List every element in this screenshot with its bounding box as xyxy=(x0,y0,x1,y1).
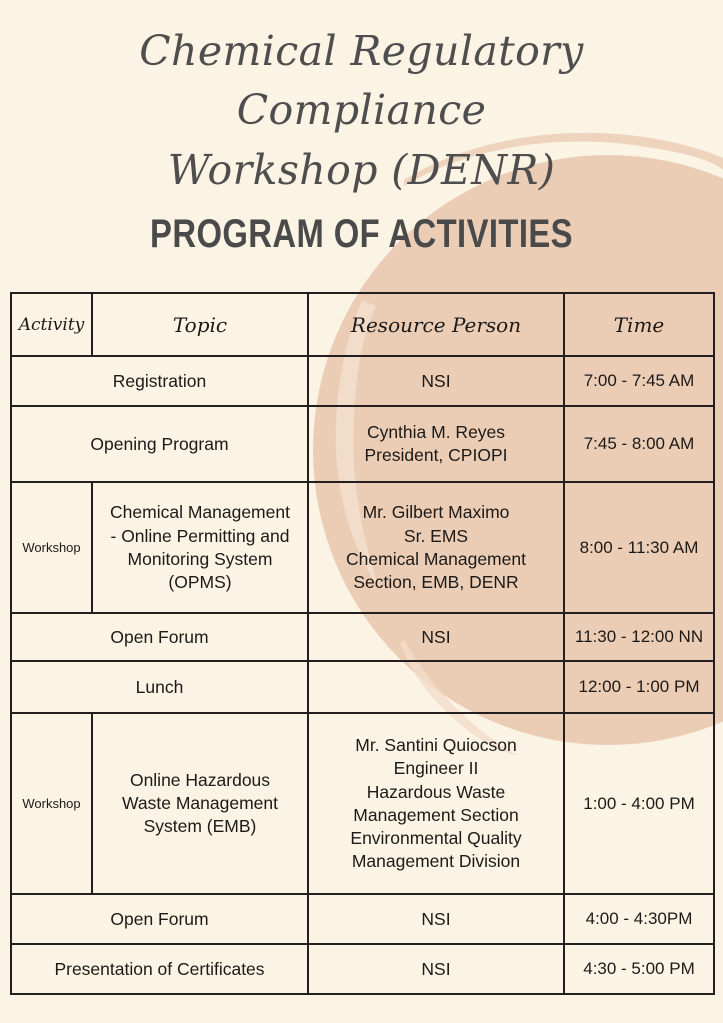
person-line: Chemical Management xyxy=(313,548,559,571)
topic-line: Online Hazardous xyxy=(97,769,303,792)
cell-time: 11:30 - 12:00 NN xyxy=(564,613,714,661)
cell-topic: Opening Program xyxy=(11,406,308,482)
cell-resource-person: Mr. Santini Quiocson Engineer II Hazardo… xyxy=(308,713,564,894)
cell-resource-person xyxy=(308,661,564,713)
page-subtitle: PROGRAM OF ACTIVITIES xyxy=(65,214,658,254)
column-header-time: Time xyxy=(564,293,714,356)
person-line: Environmental Quality xyxy=(313,827,559,850)
person-line: Management Section xyxy=(313,804,559,827)
person-line: Cynthia M. Reyes xyxy=(313,421,559,444)
person-line: Section, EMB, DENR xyxy=(313,571,559,594)
topic-line: Chemical Management xyxy=(97,501,303,524)
table-row: Presentation of Certificates NSI 4:30 - … xyxy=(11,944,714,994)
table-row: Opening Program Cynthia M. Reyes Preside… xyxy=(11,406,714,482)
column-header-activity: Activity xyxy=(11,293,92,356)
cell-topic: Presentation of Certificates xyxy=(11,944,308,994)
person-line: Engineer II xyxy=(313,757,559,780)
table-row: Open Forum NSI 11:30 - 12:00 NN xyxy=(11,613,714,661)
cell-topic: Lunch xyxy=(11,661,308,713)
cell-resource-person: Cynthia M. Reyes President, CPIOPI xyxy=(308,406,564,482)
column-header-topic: Topic xyxy=(92,293,308,356)
cell-topic: Registration xyxy=(11,356,308,406)
cell-activity: Workshop xyxy=(11,482,92,613)
title-line-1: Chemical Regulatory Compliance xyxy=(139,27,583,134)
header-row: Activity Topic Resource Person Time xyxy=(11,293,714,356)
cell-topic: Chemical Management - Online Permitting … xyxy=(92,482,308,613)
cell-time: 12:00 - 1:00 PM xyxy=(564,661,714,713)
table-row: Registration NSI 7:00 - 7:45 AM xyxy=(11,356,714,406)
program-poster: Chemical Regulatory Compliance Workshop … xyxy=(0,0,723,1023)
table-row: Open Forum NSI 4:00 - 4:30PM xyxy=(11,894,714,944)
table-row: Lunch 12:00 - 1:00 PM xyxy=(11,661,714,713)
cell-topic: Open Forum xyxy=(11,894,308,944)
cell-resource-person: NSI xyxy=(308,356,564,406)
person-line: Mr. Santini Quiocson xyxy=(313,734,559,757)
cell-resource-person: Mr. Gilbert Maximo Sr. EMS Chemical Mana… xyxy=(308,482,564,613)
topic-line: (OPMS) xyxy=(97,571,303,594)
table-header: Activity Topic Resource Person Time xyxy=(11,293,714,356)
person-line: Sr. EMS xyxy=(313,525,559,548)
person-line: President, CPIOPI xyxy=(313,444,559,467)
schedule-table-container: Activity Topic Resource Person Time Regi… xyxy=(10,292,713,995)
table-row: Workshop Online Hazardous Waste Manageme… xyxy=(11,713,714,894)
topic-line: Waste Management xyxy=(97,792,303,815)
cell-topic: Online Hazardous Waste Management System… xyxy=(92,713,308,894)
cell-topic: Open Forum xyxy=(11,613,308,661)
program-schedule-table: Activity Topic Resource Person Time Regi… xyxy=(10,292,715,995)
cell-time: 8:00 - 11:30 AM xyxy=(564,482,714,613)
table-row: Workshop Chemical Management - Online Pe… xyxy=(11,482,714,613)
title-line-2: Workshop (DENR) xyxy=(168,146,555,194)
cell-activity: Workshop xyxy=(11,713,92,894)
topic-line: - Online Permitting and xyxy=(97,525,303,548)
person-line: Hazardous Waste xyxy=(313,781,559,804)
cell-time: 4:00 - 4:30PM xyxy=(564,894,714,944)
table-body: Registration NSI 7:00 - 7:45 AM Opening … xyxy=(11,356,714,994)
cell-resource-person: NSI xyxy=(308,944,564,994)
cell-resource-person: NSI xyxy=(308,613,564,661)
cell-time: 1:00 - 4:00 PM xyxy=(564,713,714,894)
cell-resource-person: NSI xyxy=(308,894,564,944)
poster-header: Chemical Regulatory Compliance Workshop … xyxy=(0,0,723,254)
topic-line: Monitoring System xyxy=(97,548,303,571)
topic-line: System (EMB) xyxy=(97,815,303,838)
column-header-resource-person: Resource Person xyxy=(308,293,564,356)
page-title: Chemical Regulatory Compliance Workshop … xyxy=(0,22,723,200)
person-line: Mr. Gilbert Maximo xyxy=(313,501,559,524)
cell-time: 7:00 - 7:45 AM xyxy=(564,356,714,406)
cell-time: 7:45 - 8:00 AM xyxy=(564,406,714,482)
cell-time: 4:30 - 5:00 PM xyxy=(564,944,714,994)
person-line: Management Division xyxy=(313,850,559,873)
